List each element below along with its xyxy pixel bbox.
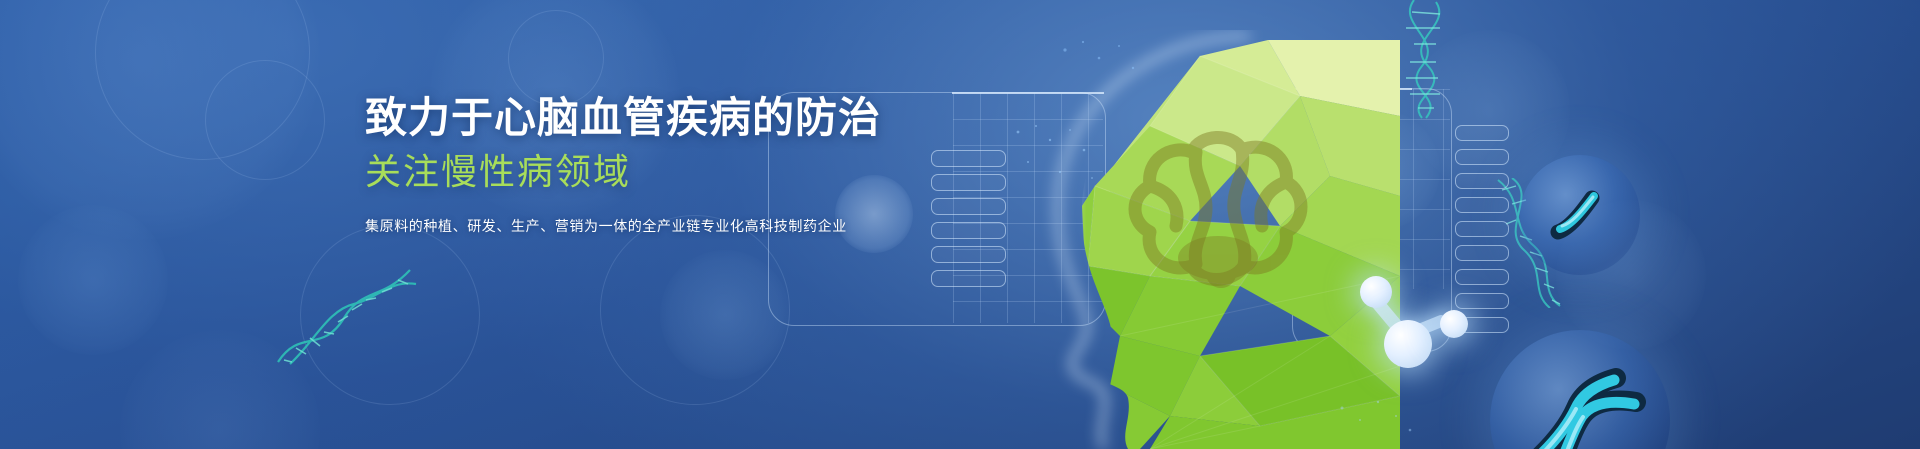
bokeh-circle (660, 250, 790, 380)
bokeh-circle (508, 10, 604, 106)
dna-helix-right-icon (1490, 178, 1570, 308)
cell-top-right (1520, 155, 1640, 275)
hud-bar (1455, 125, 1509, 141)
molecule-node (1384, 320, 1432, 368)
particle-specks (1055, 30, 1145, 90)
bokeh-circle (600, 215, 790, 405)
hero-subline: 关注慢性病领域 (365, 151, 1125, 192)
hero-tagline: 集原料的种植、研发、生产、营销为一体的全产业链专业化高科技制药企业 (365, 216, 1125, 237)
hud-bar (931, 270, 1006, 287)
molecule-bond (1367, 292, 1412, 342)
chromosome-icon (1520, 368, 1650, 449)
bokeh-circle (300, 225, 480, 405)
brain-overlay-icon (1135, 137, 1301, 279)
hud-bar (1455, 293, 1509, 309)
bokeh-circle (1320, 110, 1440, 230)
bokeh-circle (120, 330, 320, 449)
hud-bar (1455, 173, 1509, 189)
cell-bottom-right (1490, 330, 1670, 449)
bokeh-circle (1556, 200, 1706, 350)
hud-top-line-right (1292, 88, 1412, 90)
bokeh-circle (205, 60, 325, 180)
bokeh-circle (95, 0, 310, 160)
bokeh-circle (0, 0, 320, 240)
hud-bar (1455, 269, 1509, 285)
hud-bar (1455, 245, 1509, 261)
bokeh-circle (1410, 30, 1570, 190)
molecule-node (1440, 310, 1468, 338)
dna-helix-top-icon (1392, 0, 1462, 120)
head-halo-glow (1000, 30, 1360, 449)
hud-bar (1455, 197, 1509, 213)
molecule-bond (1402, 313, 1449, 341)
brain-stem-icon (1178, 236, 1258, 288)
molecule-node (1360, 276, 1392, 308)
hero-copy-block: 致力于心脑血管疾病的防治 关注慢性病领域 集原料的种植、研发、生产、营销为一体的… (365, 94, 1125, 237)
particle-specks (1330, 390, 1420, 440)
hud-bar (1455, 221, 1509, 237)
hero-banner: 致力于心脑血管疾病的防治 关注慢性病领域 集原料的种植、研发、生产、营销为一体的… (0, 0, 1920, 449)
hud-bar (931, 246, 1006, 263)
hud-grid-right (1293, 89, 1450, 289)
dna-helix-left-icon (270, 258, 420, 368)
bacillus-icon (1548, 182, 1620, 248)
hud-bar (1455, 149, 1509, 165)
bokeh-circle (18, 205, 168, 355)
hud-panel-right (1292, 88, 1452, 352)
hud-bar (1455, 317, 1509, 333)
hero-headline: 致力于心脑血管疾病的防治 (365, 94, 1125, 141)
